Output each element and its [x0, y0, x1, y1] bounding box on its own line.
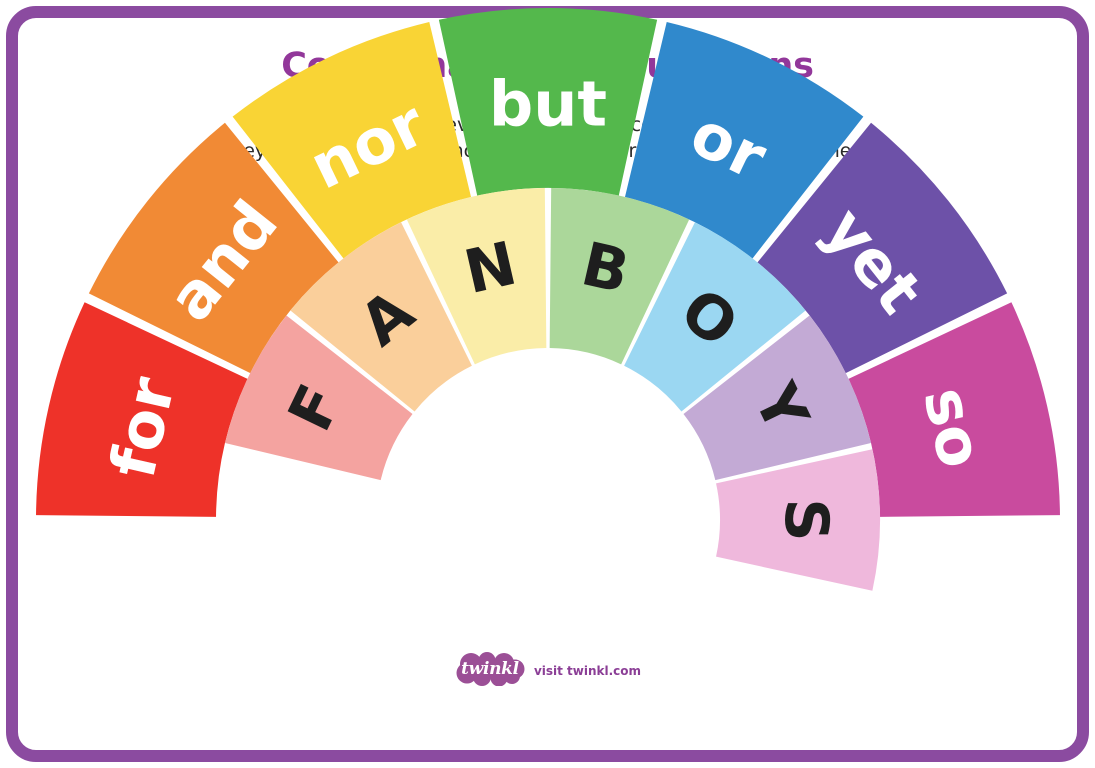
fan-letter-label-S: S [771, 498, 841, 541]
twinkl-visit-link[interactable]: visit twinkl.com [534, 661, 641, 678]
poster-page: Co-ordinating Conjunctions There are sev… [0, 0, 1095, 768]
fan-word-label-but: but [489, 68, 607, 141]
twinkl-logo[interactable]: twinkl [454, 652, 526, 686]
twinkl-footer: twinkl visit twinkl.com [0, 652, 1095, 686]
twinkl-brand-text: twinkl [454, 652, 526, 686]
